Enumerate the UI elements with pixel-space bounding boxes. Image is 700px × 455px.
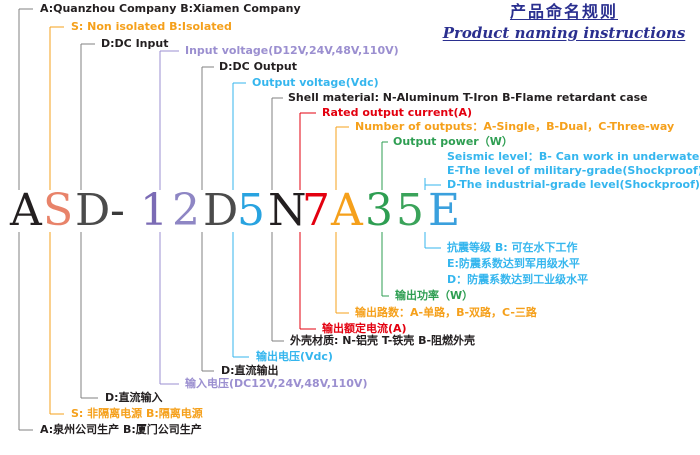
code-char-6: D [203,186,238,236]
code-char-10: A [331,186,363,236]
label-dc-output-en: D:DC Output [219,61,297,73]
label-input-voltage-cn: 输入电压(DC12V,24V,48V,110V) [185,378,367,390]
page-title-en: Product naming instructions [430,22,698,44]
label-out-voltage-cn: 输出电压(Vdc) [256,351,333,363]
label-out-voltage-en: Output voltage(Vdc) [252,77,379,89]
label-shell-en: Shell material: N-Aluminum T-Iron B-Flam… [288,92,648,104]
label-seismic-en-3: D-The industrial-grade level(Shockproof) [447,179,700,191]
naming-rule-diagram: 产品命名规则 Product naming instructions A:Qua… [0,0,700,455]
label-out-power-cn: 输出功率（W） [395,290,473,302]
code-char-12: 5 [396,186,424,236]
code-char-1: S [43,186,73,236]
code-char-13: E [428,186,460,236]
label-dc-output-cn: D:直流输出 [221,365,279,377]
product-code-row: ASD-12D5N7A35E [0,186,470,238]
label-seismic-en-1: Seismic level：B- Can work in underwater [447,151,700,163]
code-char-2: D [75,186,110,236]
label-input-voltage-en: Input voltage(D12V,24V,48V,110V) [185,45,399,57]
code-char-8: N [268,186,307,236]
label-dc-input-cn: D:直流输入 [105,392,163,404]
code-char-4: 1 [140,186,168,236]
code-char-5: 2 [172,186,200,236]
label-origin-cn: A:泉州公司生产 B:厦门公司生产 [40,424,202,436]
label-isolation-cn: S: 非隔离电源 B:隔离电源 [71,408,203,420]
label-out-power-en: Output power（W） [393,136,513,148]
label-num-outputs-en: Number of outputs：A-Single，B-Dual，C-Thre… [355,121,674,133]
code-char-9: 7 [302,186,330,236]
label-isolation-en: S: Non isolated B:Isolated [71,21,232,33]
label-seismic-cn-1: 抗震等级 B: 可在水下工作 [447,242,577,254]
page-title-cn: 产品命名规则 [430,2,698,22]
code-char-11: 3 [365,186,393,236]
label-num-outputs-cn: 输出路数：A-单路，B-双路，C-三路 [355,307,537,319]
label-seismic-cn-3: D：防震系数达到工业级水平 [447,274,588,286]
code-char-0: A [10,186,42,236]
label-shell-cn: 外壳材质: N-铝壳 T-铁壳 B-阻燃外壳 [290,335,475,347]
code-char-7: 5 [237,186,265,236]
label-origin-en: A:Quanzhou Company B:Xiamen Company [40,3,301,15]
label-dc-input-en: D:DC Input [101,38,168,50]
label-rated-current-en: Rated output current(A) [322,107,472,119]
label-seismic-en-2: E-The level of military-grade(Shockproof… [447,165,700,177]
label-seismic-cn-2: E:防震系数达到军用级水平 [447,258,580,270]
code-char-3: - [110,186,125,236]
title-block: 产品命名规则 Product naming instructions [430,2,698,44]
